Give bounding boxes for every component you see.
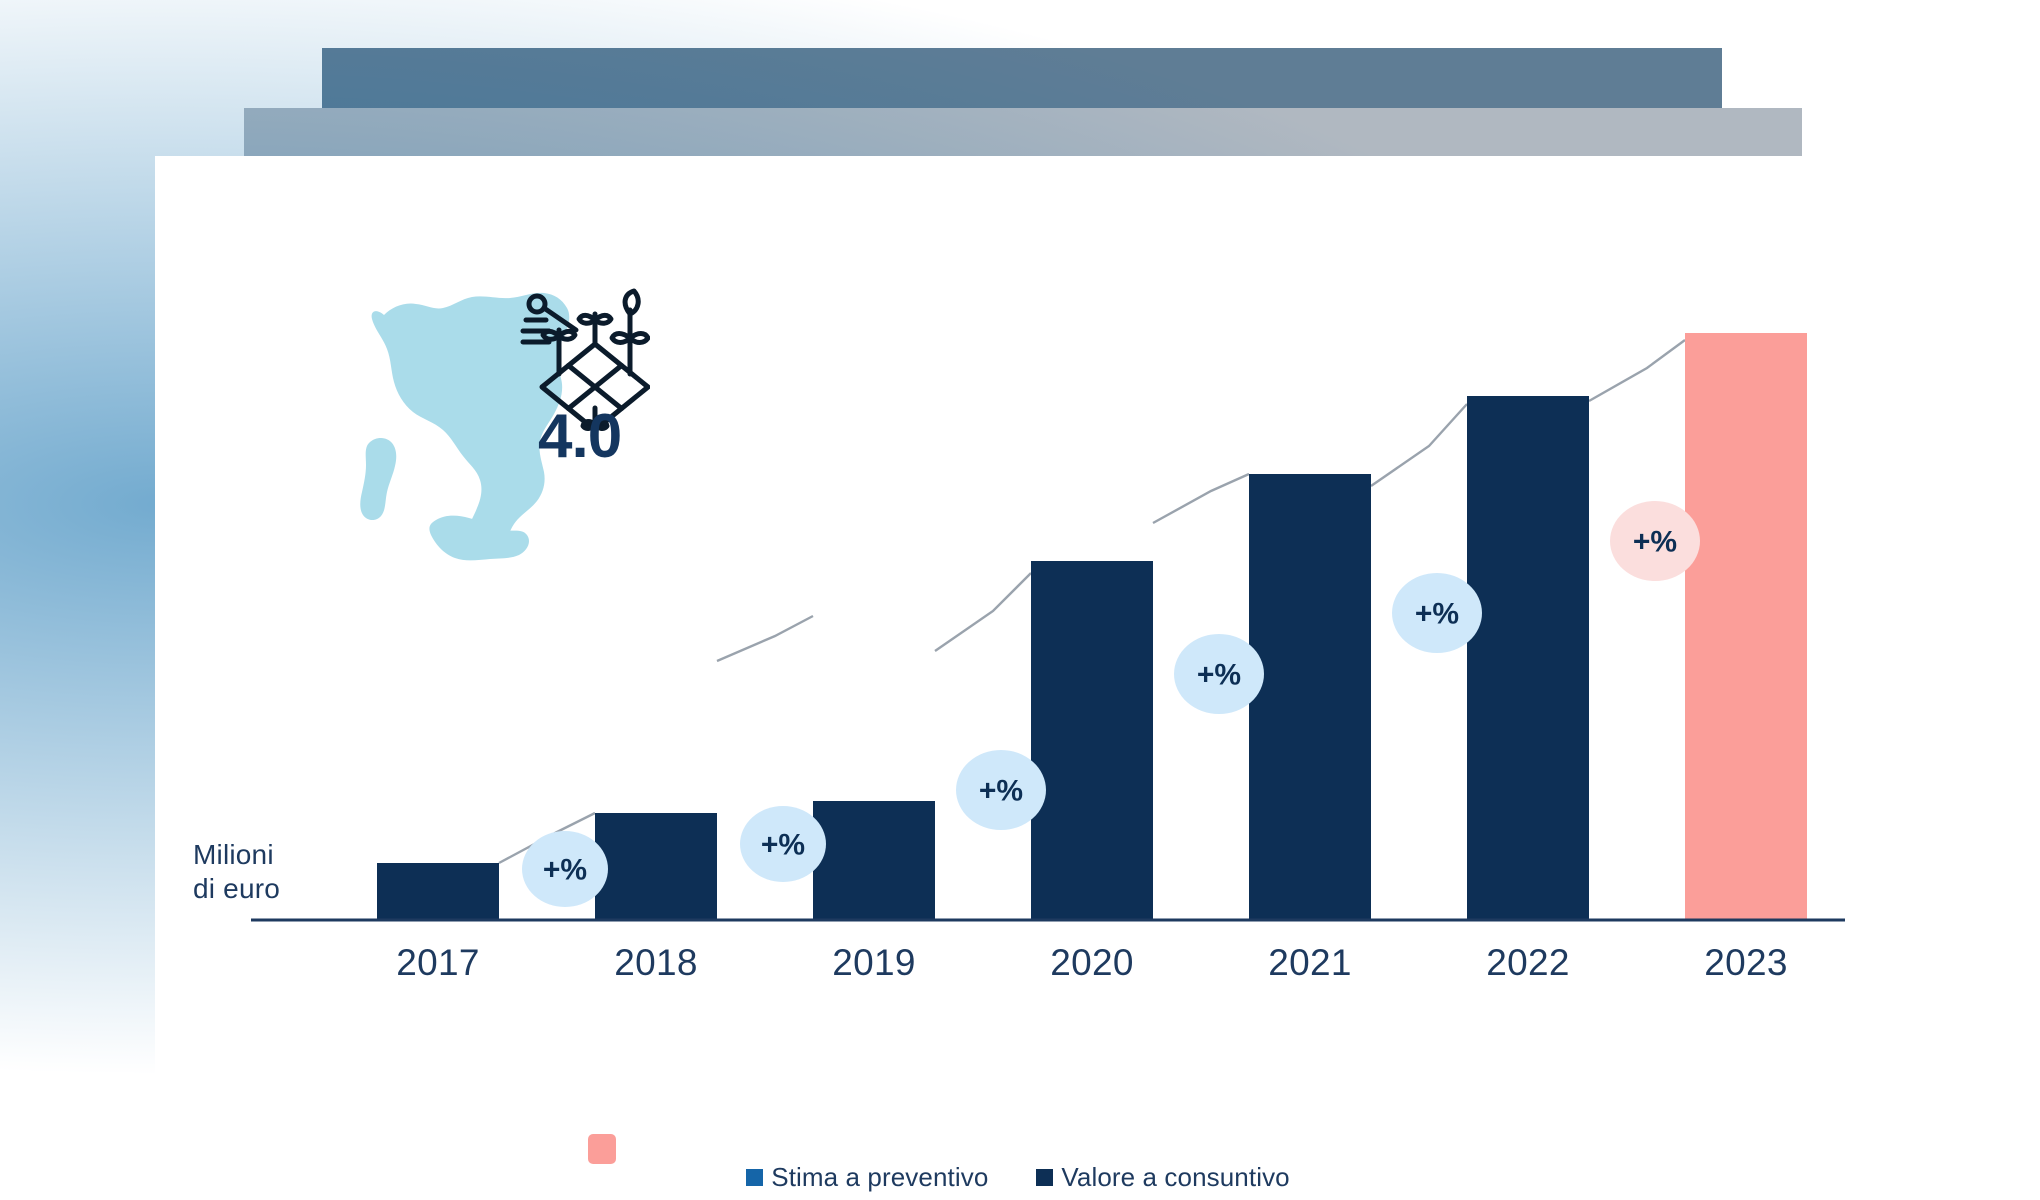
growth-bubble-label: +% (979, 775, 1023, 808)
bar-2022 (1467, 396, 1589, 919)
y-axis-label-line-2: di euro (193, 872, 353, 906)
legend-swatch-navy (1036, 1169, 1053, 1186)
growth-bubble-label: +% (543, 854, 587, 887)
chart-legend: Stima a preventivo Valore a consuntivo (155, 1162, 1881, 1193)
growth-bubble-label: +% (1415, 598, 1459, 631)
bar-2019 (813, 801, 935, 919)
bar-2020 (1031, 561, 1153, 919)
logo-version-text: 4.0 (538, 402, 621, 471)
slide-canvas: 4.0 (0, 0, 2040, 1200)
bar-2017 (377, 863, 499, 919)
growth-bubble-label: +% (1633, 526, 1677, 559)
legend-item-valore-a-consuntivo[interactable]: Valore a consuntivo (1036, 1162, 1289, 1193)
x-tick-2022: 2022 (1468, 942, 1588, 984)
x-tick-2017: 2017 (378, 942, 498, 984)
x-tick-2020: 2020 (1032, 942, 1152, 984)
bar-2021 (1249, 474, 1371, 919)
legend-item-stima-a-preventivo[interactable]: Stima a preventivo (746, 1162, 988, 1193)
x-tick-2023: 2023 (1686, 942, 1806, 984)
legend-label: Stima a preventivo (771, 1162, 988, 1193)
growth-bubble-label: +% (761, 829, 805, 862)
x-tick-2018: 2018 (596, 942, 716, 984)
bar-2023 (1685, 333, 1807, 919)
agricoltura-4-0-logo: 4.0 (330, 252, 650, 562)
y-axis-label-line-1: Milioni (193, 838, 353, 872)
legend-swatch-blue (746, 1169, 763, 1186)
card-layer-front: 4.0 (155, 156, 1881, 1200)
y-axis-label: Milioni di euro (193, 838, 353, 906)
growth-bubble-label: +% (1197, 659, 1241, 692)
x-tick-2019: 2019 (814, 942, 934, 984)
bar-2018 (595, 813, 717, 919)
legend-label: Valore a consuntivo (1061, 1162, 1289, 1193)
x-tick-2021: 2021 (1250, 942, 1370, 984)
legend-swatch-stima-preventivo-pink (588, 1134, 616, 1164)
